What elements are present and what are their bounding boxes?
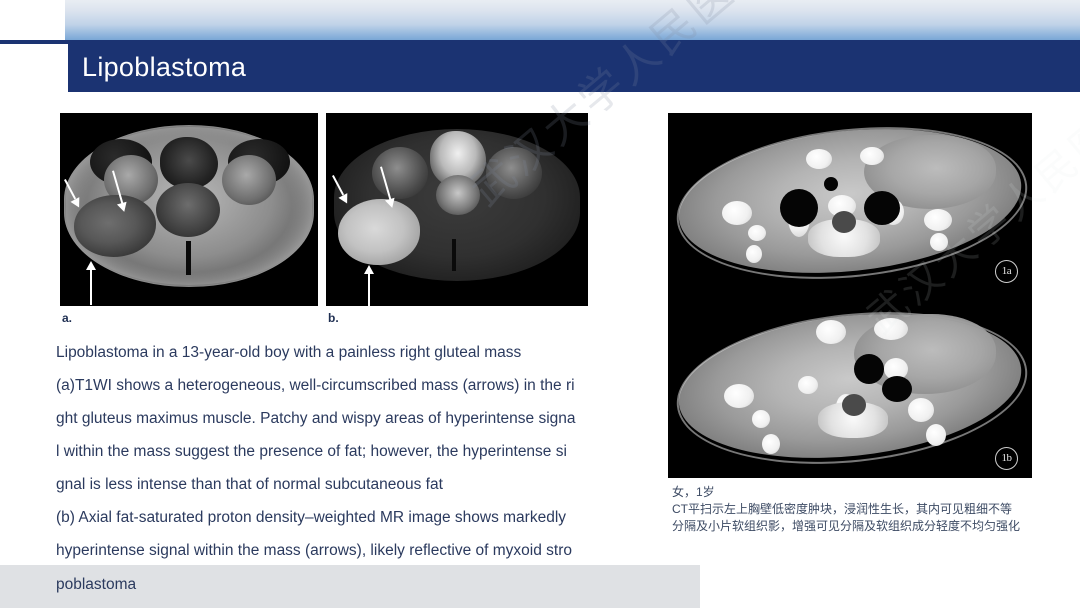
pelvic-midline-structures <box>156 183 220 237</box>
ct-label-1b: 1b <box>995 447 1018 470</box>
arrow-mass-superior <box>112 171 142 215</box>
arrow-mass-lateral-b <box>332 175 362 211</box>
vessel-right-small-b <box>752 410 770 428</box>
arrow-mass-superior-b <box>380 167 410 213</box>
spinal-canal-b <box>842 394 866 416</box>
vessel-left-small <box>930 233 948 251</box>
femoral-head-right <box>222 155 276 205</box>
page-title: Lipoblastoma <box>82 48 246 86</box>
mr-image-panel-b <box>326 113 588 306</box>
gluteal-cleft <box>186 241 191 275</box>
vessel-left-anterior <box>860 147 884 165</box>
ct-label-1a: 1a <box>995 260 1018 283</box>
caption-line: gnal is less intense than that of normal… <box>56 468 642 501</box>
header-gradient-band <box>65 0 1080 40</box>
lung-apex-left-b <box>882 376 912 402</box>
slide-canvas: Lipoblastoma <box>0 0 1080 608</box>
cn-caption-line: CT平扫示左上胸壁低密度肿块，浸润性生长，其内可见粗细不等 <box>672 501 1044 518</box>
cn-caption-line: 女，1岁 <box>672 484 1044 501</box>
vessel-left-anterior-b <box>874 318 908 340</box>
vessel-right-axillary <box>722 201 752 225</box>
ct-slice-upper: 1a <box>668 113 1032 293</box>
cn-caption-line: 分隔及小片软组织影，增强可见分隔及软组织成分轻度不均匀强化 <box>672 518 1044 535</box>
caption-line: ght gluteus maximus muscle. Patchy and w… <box>56 402 642 435</box>
arrow-mass-inferior-b <box>362 265 382 306</box>
caption-line: hyperintense signal within the mass (arr… <box>56 534 642 567</box>
figure-label-a: a. <box>62 311 72 325</box>
english-caption-block: Lipoblastoma in a 13-year-old boy with a… <box>56 336 642 600</box>
caption-line: (a)T1WI shows a heterogeneous, well-circ… <box>56 369 642 402</box>
vessel-right-small <box>748 225 766 241</box>
ct-slice-lower: 1b <box>668 298 1032 478</box>
midline-bright-structure <box>436 175 480 215</box>
femoral-head-right-fs <box>486 147 542 199</box>
vessel-left-small-b <box>926 424 946 446</box>
figure-label-b: b. <box>328 311 339 325</box>
ct-image-panel: 1a 1b <box>668 113 1032 478</box>
arrow-mass-lateral <box>64 179 94 213</box>
gluteal-cleft-fs <box>452 239 456 271</box>
lung-apex-right <box>780 189 818 227</box>
mr-image-panel-a <box>60 113 318 306</box>
vessel-left-axillary <box>924 209 952 231</box>
header-left-notch <box>0 44 68 92</box>
bladder-rectum <box>160 137 218 189</box>
vessel-right-axillary-b <box>724 384 754 408</box>
caption-line: l within the mass suggest the presence o… <box>56 435 642 468</box>
arrow-mass-inferior <box>84 261 104 305</box>
airway-lumen-b <box>854 354 884 384</box>
trachea-lumen <box>824 177 838 191</box>
vessel-mid-right-b <box>798 376 818 394</box>
caption-line: (b) Axial fat-saturated proton density–w… <box>56 501 642 534</box>
lung-apex-left <box>864 191 900 225</box>
chinese-caption-block: 女，1岁 CT平扫示左上胸壁低密度肿块，浸润性生长，其内可见粗细不等 分隔及小片… <box>672 484 1044 535</box>
vessel-right-anterior-b <box>816 320 846 344</box>
caption-line-last: poblastoma <box>56 568 136 601</box>
vessel-right-lower-b <box>762 434 780 454</box>
vessel-right-lower <box>746 245 762 263</box>
caption-line: Lipoblastoma in a 13-year-old boy with a… <box>56 336 642 369</box>
vessel-left-axillary-b <box>908 398 934 422</box>
spinal-canal <box>832 211 856 233</box>
vessel-right-anterior <box>806 149 832 169</box>
